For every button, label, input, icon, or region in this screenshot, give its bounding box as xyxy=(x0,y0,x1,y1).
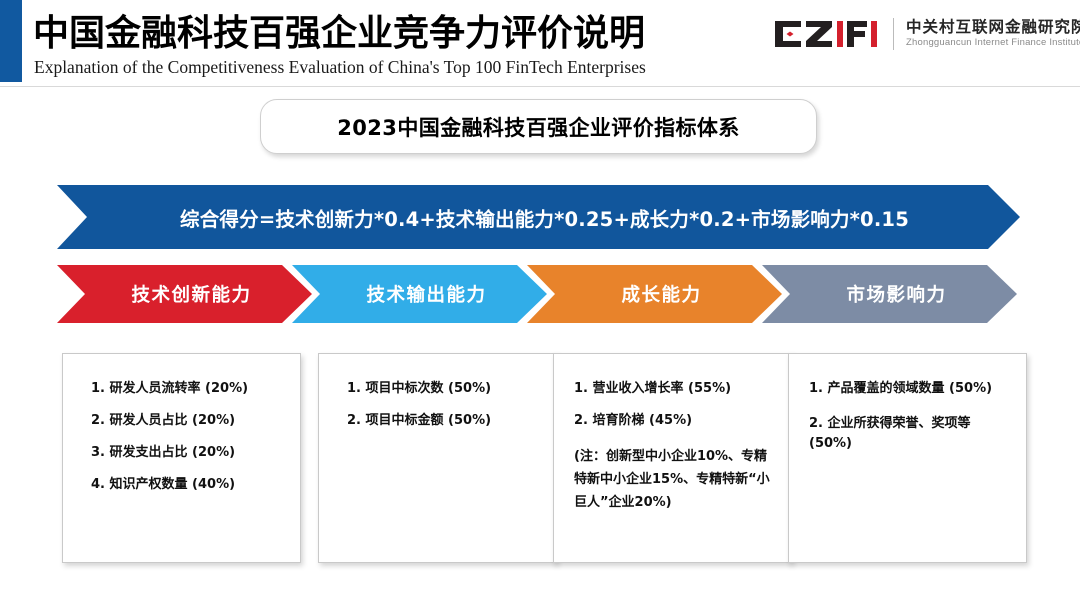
page-title-chinese: 中国金融科技百强企业竞争力评价说明 xyxy=(33,4,645,56)
chevron-label: 技术创新能力 xyxy=(117,281,251,307)
metrics-card-technology-innovation: 1. 研发人员流转率 (20%) 2. 研发人员占比 (20%) 3. 研发支出… xyxy=(62,353,301,563)
page-header: 中国金融科技百强企业竞争力评价说明 Explanation of the Com… xyxy=(0,0,1080,88)
metric-item: 2. 培育阶梯 (45%) xyxy=(568,414,777,427)
score-formula-text: 综合得分=技术创新力*0.4+技术输出能力*0.25+成长力*0.2+市场影响力… xyxy=(168,203,909,232)
dimension-chevron-row: 技术创新能力 技术输出能力 成长能力 市场影响力 xyxy=(0,265,1080,323)
metrics-card-market-influence: 1. 产品覆盖的领域数量 (50%) 2. 企业所获得荣誉、奖项等 (50%) xyxy=(788,353,1027,563)
czifi-logo-icon xyxy=(775,19,883,49)
logo-divider xyxy=(893,18,894,50)
chevron-technology-output[interactable]: 技术输出能力 xyxy=(292,265,547,323)
metric-item: 2. 研发人员占比 (20%) xyxy=(77,414,286,427)
metric-item: 1. 项目中标次数 (50%) xyxy=(333,382,542,395)
logo-name-chinese: 中关村互联网金融研究院 xyxy=(906,19,1080,37)
chevron-label: 成长能力 xyxy=(607,281,701,307)
metric-item: 2. 项目中标金额 (50%) xyxy=(333,414,542,427)
header-accent-bar xyxy=(0,0,22,82)
metric-item: 1. 产品覆盖的领域数量 (50%) xyxy=(803,382,1012,395)
section-title-box: 2023中国金融科技百强企业评价指标体系 xyxy=(260,99,817,154)
metrics-card-technology-output: 1. 项目中标次数 (50%) 2. 项目中标金额 (50%) xyxy=(318,353,557,563)
metric-item: 4. 知识产权数量 (40%) xyxy=(77,478,286,491)
institute-logo: 中关村互联网金融研究院 Zhongguancun Internet Financ… xyxy=(775,12,1080,56)
logo-name-english: Zhongguancun Internet Finance Institute xyxy=(906,38,1080,49)
chevron-growth-capability[interactable]: 成长能力 xyxy=(527,265,782,323)
score-formula-banner: 综合得分=技术创新力*0.4+技术输出能力*0.25+成长力*0.2+市场影响力… xyxy=(57,185,1020,249)
logo-text-block: 中关村互联网金融研究院 Zhongguancun Internet Financ… xyxy=(906,19,1080,50)
metric-item: 1. 营业收入增长率 (55%) xyxy=(568,382,777,395)
chevron-label: 技术输出能力 xyxy=(352,281,486,307)
chevron-label: 市场影响力 xyxy=(832,281,946,307)
section-title-text: 2023中国金融科技百强企业评价指标体系 xyxy=(337,112,739,142)
chevron-market-influence[interactable]: 市场影响力 xyxy=(762,265,1017,323)
metrics-card-growth-capability: 1. 营业收入增长率 (55%) 2. 培育阶梯 (45%) (注：创新型中小企… xyxy=(553,353,792,563)
metric-item: 3. 研发支出占比 (20%) xyxy=(77,446,286,459)
metric-item: 2. 企业所获得荣誉、奖项等 (50%) xyxy=(803,414,1012,454)
page-title-english: Explanation of the Competitiveness Evalu… xyxy=(34,57,646,78)
metric-note: (注：创新型中小企业10%、专精特新中小企业15%、专精特新“小巨人”企业20%… xyxy=(568,446,777,514)
chevron-technology-innovation[interactable]: 技术创新能力 xyxy=(57,265,312,323)
metric-item: 1. 研发人员流转率 (20%) xyxy=(77,382,286,395)
header-divider xyxy=(0,86,1080,87)
